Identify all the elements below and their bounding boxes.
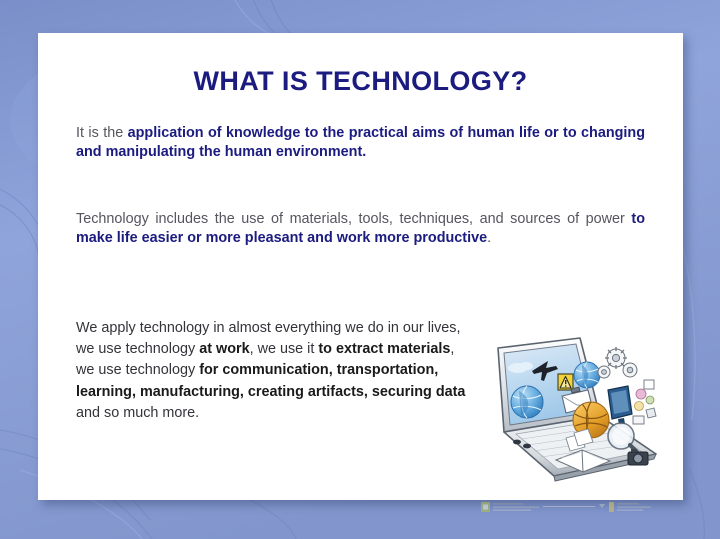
icons-cluster xyxy=(633,380,656,424)
laptop-illustration-svg xyxy=(470,328,670,493)
para2-lead: Technology includes the use of materials… xyxy=(76,211,631,227)
para2-tail: . xyxy=(487,230,491,246)
para1-lead: It is the xyxy=(76,125,128,141)
globe-icon xyxy=(574,362,600,388)
monitor-icon xyxy=(608,386,632,425)
gear-icon xyxy=(598,349,637,378)
paragraph-apply: We apply technology in almost everything… xyxy=(76,318,466,424)
para3-part4: and so much more. xyxy=(76,405,199,421)
page-title: WHAT IS TECHNOLOGY? xyxy=(76,33,645,97)
para1-emphasis: application of knowledge to the practica… xyxy=(76,125,645,160)
paragraph-apply-block: We apply technology in almost everything… xyxy=(76,318,466,424)
para3-part2: , we use it xyxy=(250,341,319,357)
paragraph-definition: It is the application of knowledge to th… xyxy=(76,97,645,162)
image-credit-watermark xyxy=(481,499,661,513)
globe-icon xyxy=(511,386,543,418)
slide-canvas: WHAT IS TECHNOLOGY? It is the applicatio… xyxy=(0,0,720,539)
content-card: WHAT IS TECHNOLOGY? It is the applicatio… xyxy=(38,33,683,500)
card-inner: WHAT IS TECHNOLOGY? It is the applicatio… xyxy=(38,33,683,500)
para3-bold2: to extract materials xyxy=(318,341,450,357)
laptop-with-technology-icons-illustration xyxy=(470,328,670,493)
paragraph-includes: Technology includes the use of materials… xyxy=(76,162,645,248)
para3-bold1: at work xyxy=(199,341,249,357)
warning-triangle-icon xyxy=(558,374,573,390)
